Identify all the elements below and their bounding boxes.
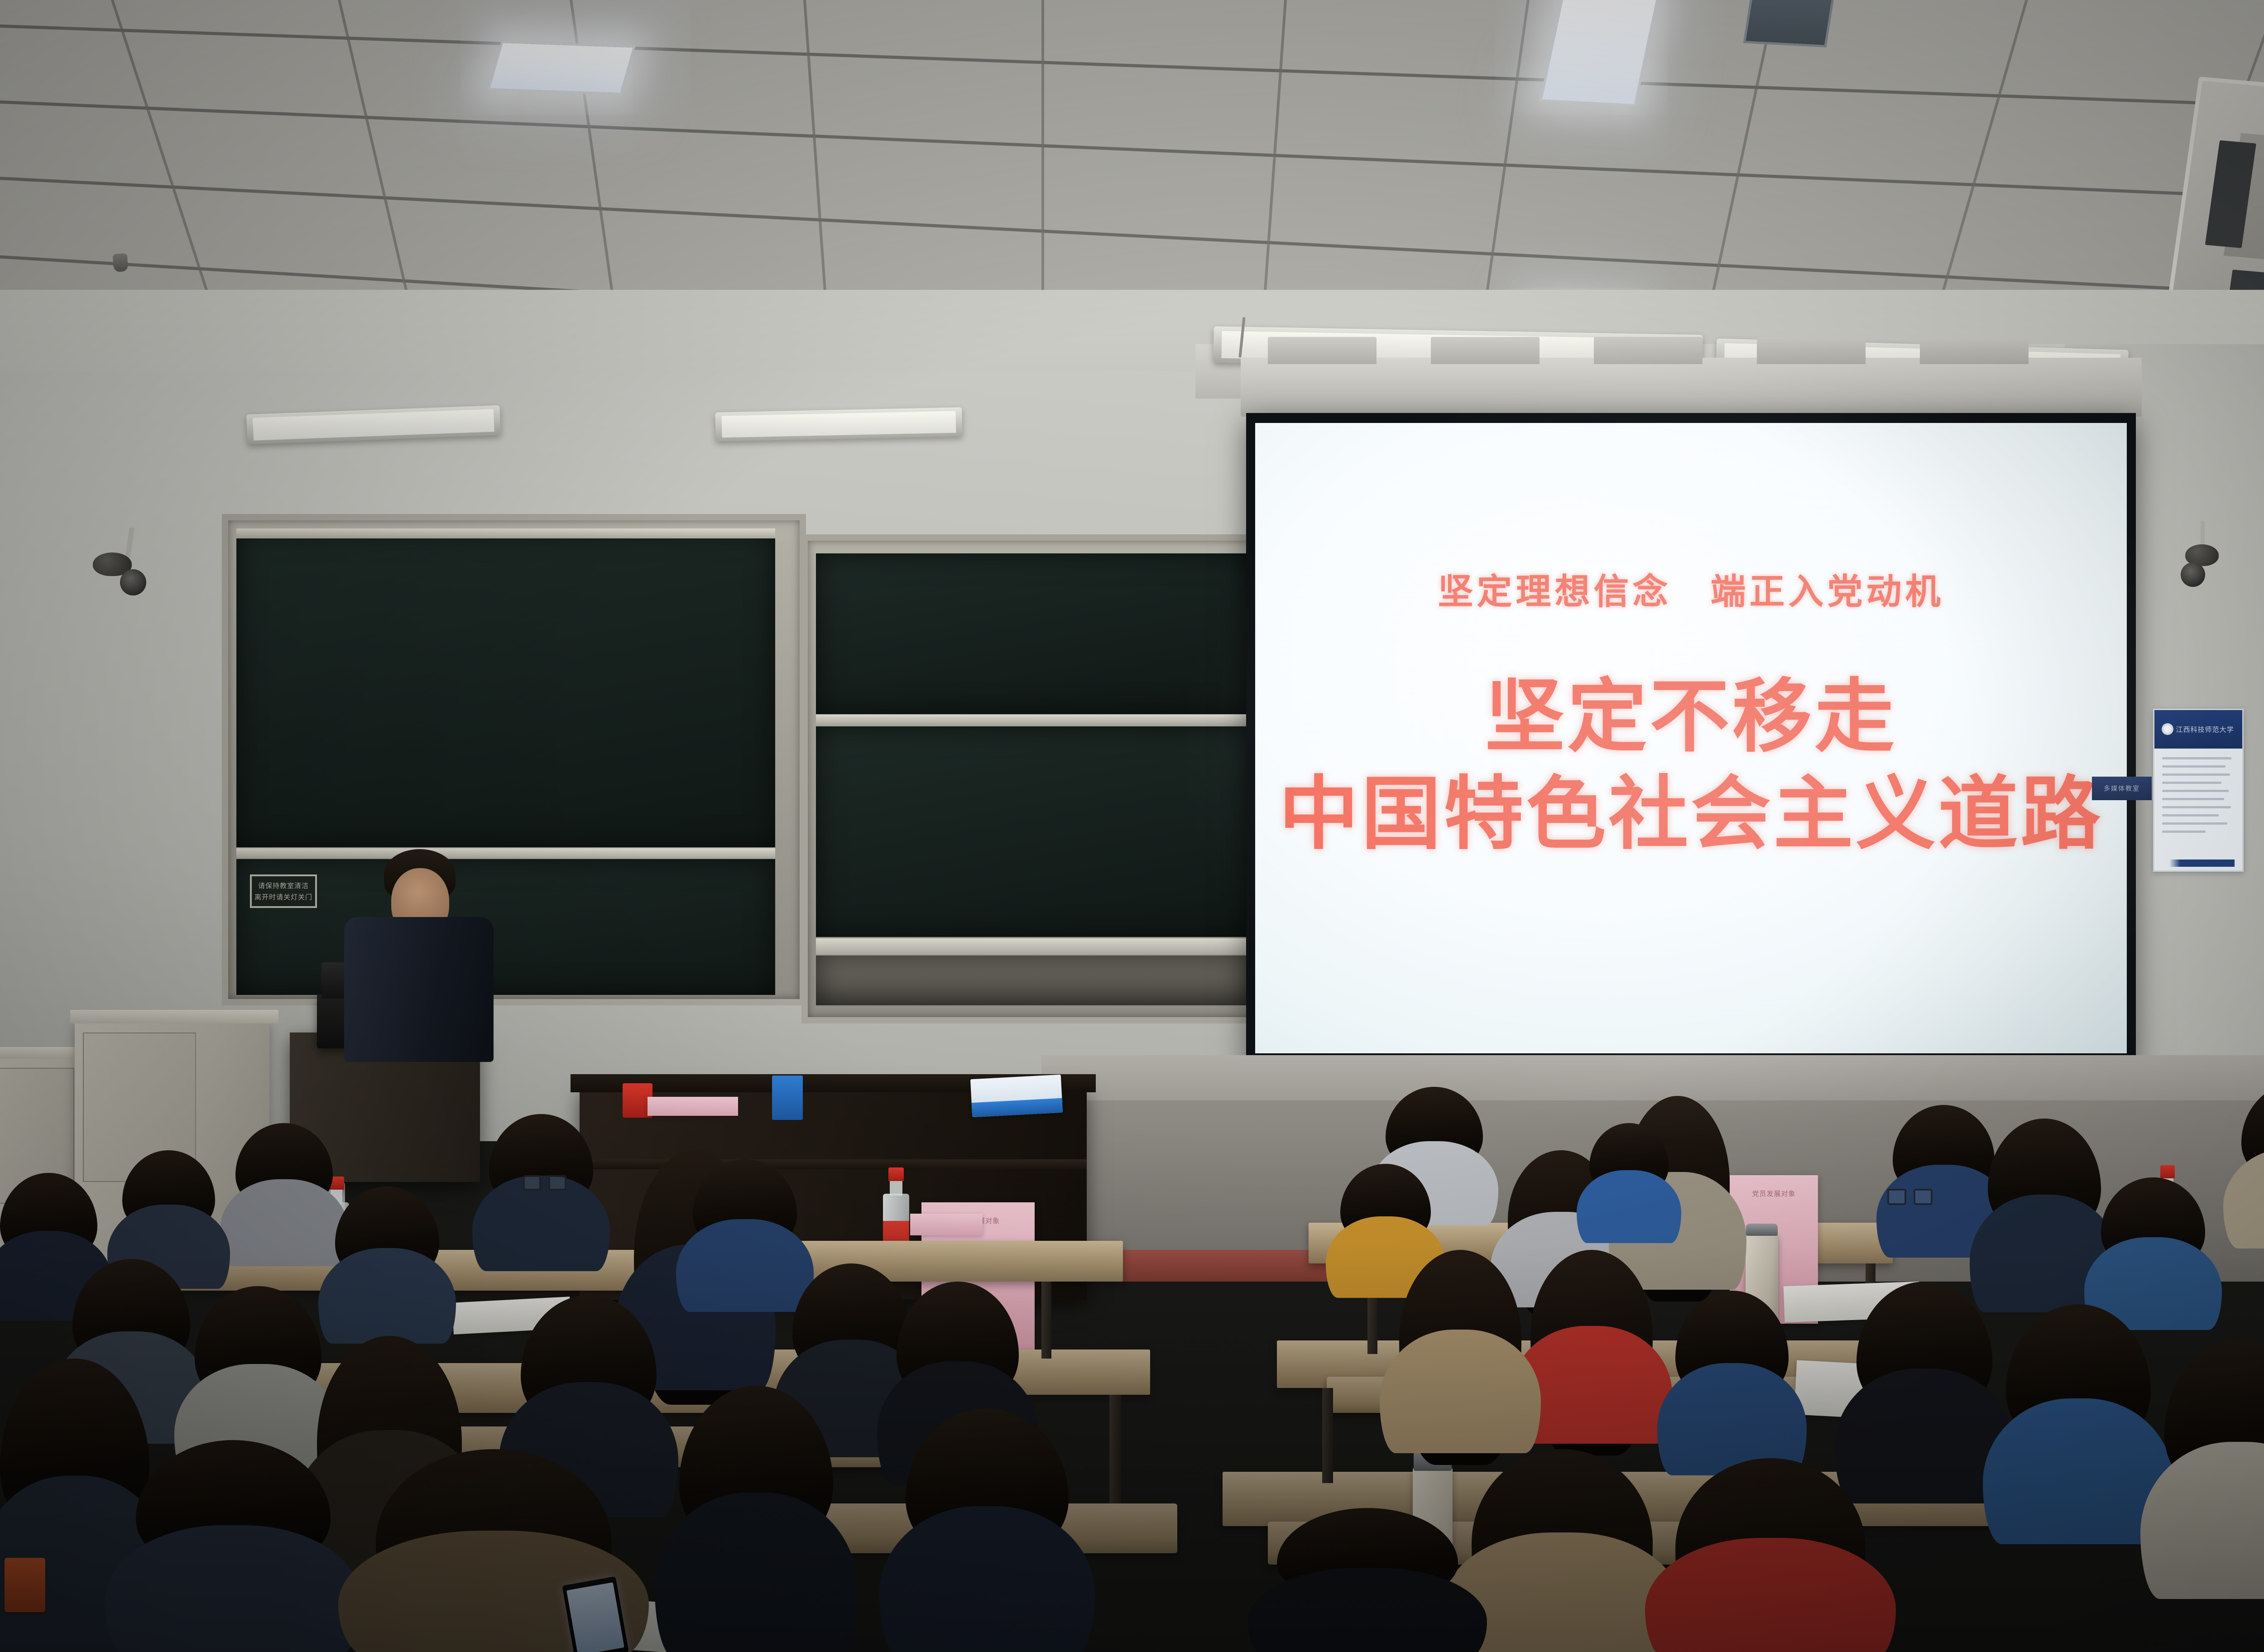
- desk-leg: [1041, 1282, 1051, 1359]
- chalk-tray: [236, 848, 775, 858]
- blue-box: [772, 1076, 803, 1120]
- audience-person: [1675, 1458, 1866, 1652]
- audience-person: [489, 1114, 593, 1268]
- audience-person: [1589, 1123, 1669, 1241]
- blackboard-panel-right-upper[interactable]: [816, 553, 1253, 714]
- presenter-torso: [344, 917, 494, 1062]
- eyeglasses-icon: [1887, 1189, 1933, 1205]
- blackboard-panel-right-base: [816, 956, 1253, 1005]
- audience-person: [1399, 1250, 1521, 1449]
- notice-poster-header: 江西科技师范大学: [2176, 725, 2234, 734]
- blackboard: 请保持教室清洁 离开时请关灯关门: [222, 514, 806, 1005]
- desk-leg: [1322, 1388, 1333, 1483]
- audience-person: [693, 1159, 797, 1309]
- blackboard-right: [801, 534, 1281, 1023]
- slide-title-line-2: 中国特色社会主义道路: [1279, 766, 2103, 863]
- classroom-photo: 请保持教室清洁 离开时请关灯关门 坚定理想信念 端正入党动机 坚定不移走 中国特…: [0, 0, 2264, 1652]
- plaque-line-2: 离开时请关灯关门: [254, 892, 312, 902]
- paper-package: [970, 1075, 1063, 1117]
- blackboard-panel-lower[interactable]: [236, 859, 775, 995]
- audience-person: [679, 1386, 833, 1652]
- wall-sign: 多媒体教室: [2092, 777, 2152, 800]
- notice-poster: 江西科技师范大学: [2153, 709, 2244, 872]
- blackboard-panel-right-lower[interactable]: [816, 726, 1253, 937]
- classroom-notice-plaque: 请保持教室清洁 离开时请关灯关门: [250, 874, 317, 908]
- audience-person: [1856, 1282, 1992, 1499]
- audience-person: [1277, 1508, 1458, 1652]
- presenter: [344, 849, 494, 1057]
- chalk-tray: [816, 938, 1253, 955]
- chalk-tray: [816, 715, 1253, 725]
- audience-person: [906, 1408, 1069, 1652]
- slide-title-line-1: 坚定不移走: [1279, 668, 2103, 766]
- audience-person: [1472, 1449, 1653, 1652]
- pink-paper-stack: [648, 1097, 738, 1116]
- projection-screen[interactable]: 坚定理想信念 端正入党动机 坚定不移走 中国特色社会主义道路: [1246, 413, 2136, 1065]
- security-camera-icon: [88, 528, 156, 607]
- slide: 坚定理想信念 端正入党动机 坚定不移走 中国特色社会主义道路: [1255, 423, 2127, 1053]
- screen-valance: [1241, 358, 2142, 417]
- ceiling-light-icon: [487, 41, 636, 95]
- audience-person: [1675, 1291, 1789, 1472]
- wall-sign-label: 多媒体教室: [2104, 784, 2140, 793]
- pink-paper: [910, 1214, 983, 1235]
- slide-title: 坚定不移走 中国特色社会主义道路: [1279, 668, 2103, 863]
- notice-poster-body: [2154, 749, 2242, 870]
- audience-person: [136, 1440, 331, 1652]
- chalk-tray: [236, 528, 775, 538]
- security-camera-icon: [2178, 521, 2237, 598]
- audience-person: [2164, 1340, 2264, 1594]
- placard-header: 党员发展对象: [1730, 1189, 1818, 1198]
- audience-person: [1530, 1250, 1653, 1440]
- ceiling-light-icon: [1743, 0, 1837, 48]
- sprinkler-icon: [113, 253, 129, 272]
- audience-person: [2006, 1304, 2151, 1540]
- audience-person: [335, 1186, 439, 1340]
- plaque-line-1: 请保持教室清洁: [258, 881, 309, 890]
- university-emblem-icon: [2162, 723, 2173, 735]
- orange-item: [5, 1558, 45, 1612]
- slide-subtitle: 坚定理想信念 端正入党动机: [1438, 563, 1944, 614]
- audience-person: [1988, 1119, 2101, 1309]
- wall-tube-light-icon: [715, 407, 962, 441]
- audience-person: [2241, 1082, 2264, 1245]
- desk-leg: [1109, 1395, 1121, 1503]
- audience-person: [235, 1123, 333, 1263]
- blackboard-panel-upper[interactable]: [236, 530, 775, 847]
- eyeglasses-icon: [523, 1175, 566, 1191]
